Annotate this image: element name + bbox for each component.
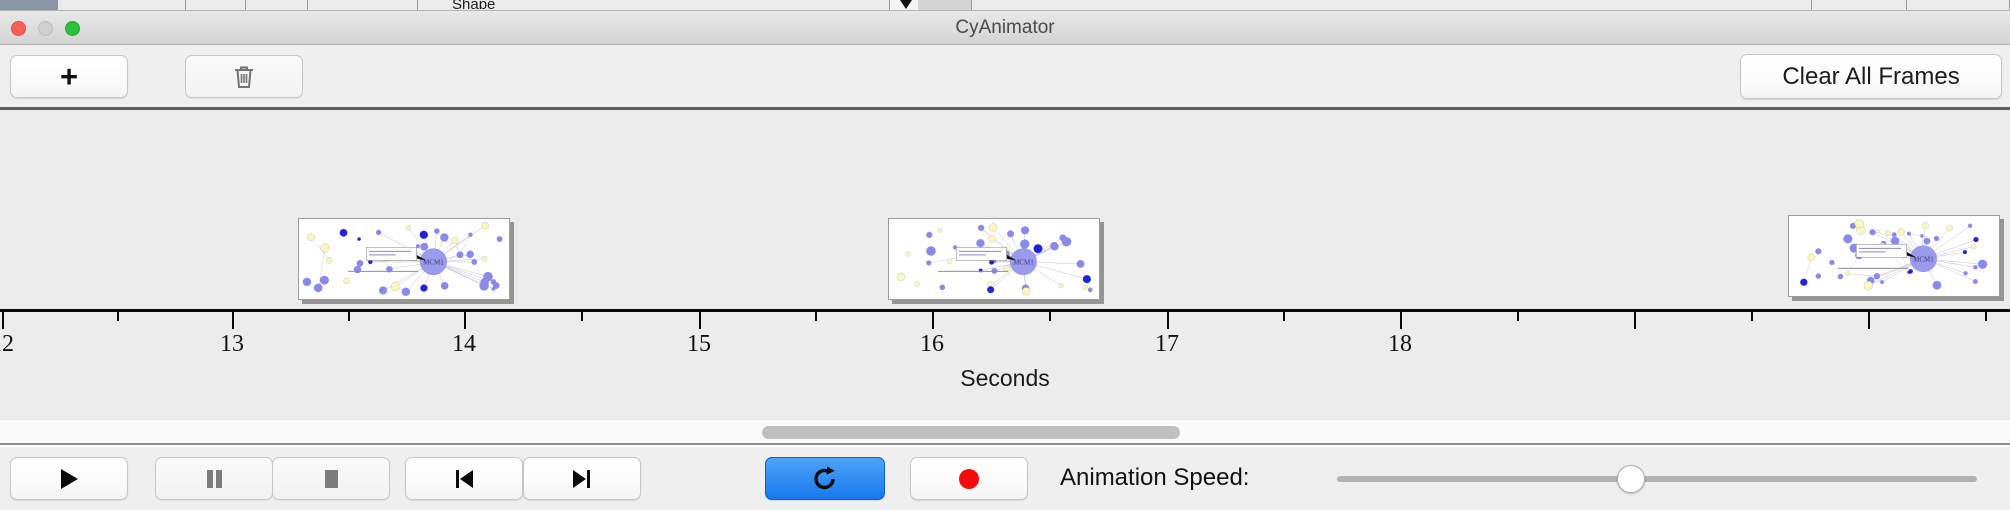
bg-panel-2 [186, 0, 246, 11]
bg-panel-6 [918, 0, 972, 11]
stop-icon [320, 467, 342, 491]
bg-collapse-triangle-icon [900, 0, 912, 9]
axis-line [0, 309, 2010, 312]
timeline-scrollbar[interactable] [0, 419, 2010, 445]
animation-speed-slider-thumb[interactable] [1617, 465, 1645, 493]
timeline-axis: 12131415161718Seconds [0, 309, 2010, 419]
axis-tick-label: 18 [1388, 331, 1412, 358]
pause-button[interactable] [155, 457, 273, 500]
background-window-sliver: Shape [0, 0, 2010, 11]
axis-tick-label: 13 [220, 331, 244, 358]
clear-all-frames-label: Clear All Frames [1782, 63, 1959, 91]
trash-icon [232, 63, 256, 91]
timeline-frame-thumbnail[interactable]: MCM1 [888, 218, 1100, 300]
title-bar: CyAnimator [0, 11, 2010, 45]
skip-to-end-icon [569, 467, 595, 491]
playback-controls-bar: Animation Speed: [0, 447, 2010, 510]
bg-panel-9 [1907, 0, 2010, 11]
skip-to-start-icon [451, 467, 477, 491]
play-button[interactable] [10, 457, 128, 500]
timeline-frames-strip: MCM1 MCM1 MCM1 [0, 110, 2010, 309]
axis-tick [699, 312, 701, 329]
clear-all-frames-button[interactable]: Clear All Frames [1740, 54, 2002, 99]
svg-text:MCM1: MCM1 [1013, 259, 1034, 267]
axis-tick [1049, 312, 1051, 321]
axis-tick [1167, 312, 1169, 329]
axis-tick [117, 312, 119, 321]
animation-speed-slider[interactable] [1337, 476, 1977, 482]
loop-icon [811, 465, 839, 493]
axis-tick [1634, 312, 1636, 329]
record-icon [957, 467, 981, 491]
add-frame-button[interactable]: + [10, 55, 128, 98]
axis-tick-label: 14 [452, 331, 476, 358]
axis-tick [232, 312, 234, 329]
axis-tick-label: 17 [1155, 331, 1179, 358]
frames-toolbar: + Clear All Frames [0, 45, 2010, 110]
record-button[interactable] [910, 457, 1028, 500]
bg-panel-dark [0, 0, 58, 11]
svg-text:MCM1: MCM1 [423, 259, 444, 267]
bg-panel-8 [1812, 0, 1907, 11]
plus-icon: + [60, 61, 78, 92]
axis-tick [1985, 312, 1987, 321]
window-title: CyAnimator [0, 11, 2010, 45]
pause-icon [203, 467, 225, 491]
axis-tick [464, 312, 466, 329]
bg-panel-4 [308, 0, 418, 11]
stop-button[interactable] [272, 457, 390, 500]
bg-panel-3 [246, 0, 308, 11]
bg-window-label: Shape [452, 0, 495, 9]
axis-tick [2, 312, 4, 329]
timeline-frame-thumbnail[interactable]: MCM1 [298, 218, 510, 300]
axis-tick-label: 16 [920, 331, 944, 358]
axis-tick [815, 312, 817, 321]
axis-tick [581, 312, 583, 321]
axis-title: Seconds [0, 365, 2010, 392]
axis-tick-label: 12 [0, 331, 14, 358]
loop-button[interactable] [765, 457, 885, 500]
svg-text:MCM1: MCM1 [1913, 256, 1934, 264]
axis-tick [1751, 312, 1753, 321]
bg-panel-7 [972, 0, 1812, 11]
timeline-scrollbar-thumb[interactable] [762, 426, 1180, 439]
timeline-frame-thumbnail[interactable]: MCM1 [1788, 215, 2000, 297]
delete-frame-button[interactable] [185, 55, 303, 98]
skip-to-start-button[interactable] [405, 457, 523, 500]
animation-speed-label: Animation Speed: [1060, 464, 1249, 492]
axis-tick [932, 312, 934, 329]
axis-tick [1517, 312, 1519, 321]
skip-to-end-button[interactable] [523, 457, 641, 500]
cyanimator-window: Shape CyAnimator + Clear All Frames [0, 0, 2010, 510]
axis-tick [1400, 312, 1402, 329]
play-icon [58, 467, 80, 491]
axis-tick-label: 15 [687, 331, 711, 358]
axis-tick [1283, 312, 1285, 321]
bg-panel-1 [58, 0, 186, 11]
axis-tick [348, 312, 350, 321]
axis-tick [1868, 312, 1870, 329]
